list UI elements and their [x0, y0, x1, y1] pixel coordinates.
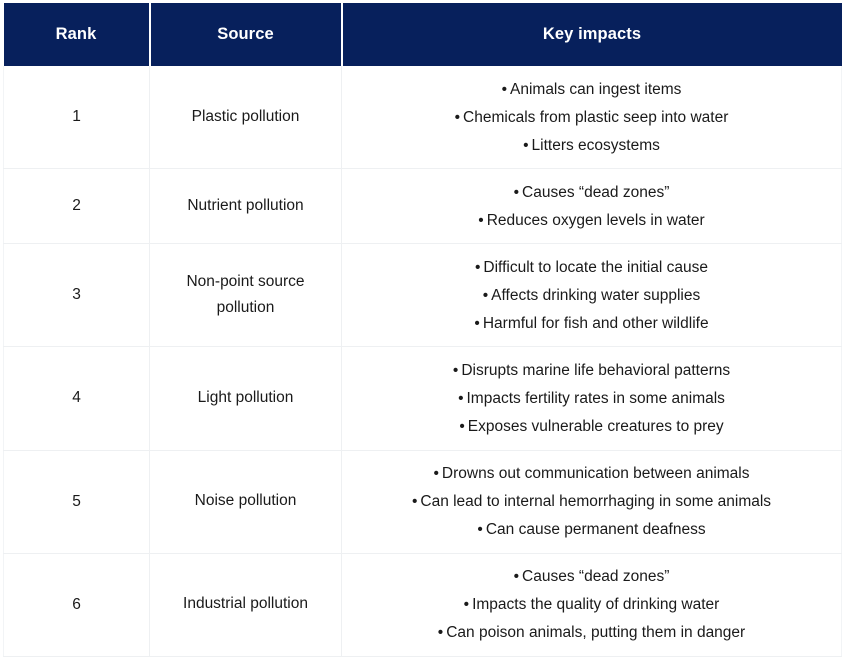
impact-list: •Causes “dead zones”•Reduces oxygen leve…: [348, 178, 835, 234]
cell-source: Nutrient pollution: [150, 169, 342, 244]
table-body: 1Plastic pollution•Animals can ingest it…: [4, 66, 842, 656]
bullet-icon: •: [458, 390, 463, 407]
impact-item: •Impacts the quality of drinking water: [348, 591, 835, 619]
impact-text: Causes “dead zones”: [522, 184, 669, 201]
column-header-source: Source: [150, 3, 342, 66]
impact-item: •Exposes vulnerable creatures to prey: [348, 412, 835, 440]
impact-text: Can lead to internal hemorrhaging in som…: [420, 493, 771, 510]
bullet-icon: •: [464, 596, 469, 613]
impact-item: •Can cause permanent deafness: [348, 516, 835, 544]
bullet-icon: •: [412, 493, 417, 510]
bullet-icon: •: [514, 184, 519, 201]
impact-text: Animals can ingest items: [510, 81, 681, 98]
cell-rank: 5: [4, 450, 150, 553]
cell-rank: 2: [4, 169, 150, 244]
impact-item: •Affects drinking water supplies: [348, 281, 835, 309]
impact-item: •Litters ecosystems: [348, 131, 835, 159]
bullet-icon: •: [483, 287, 488, 304]
impact-item: •Harmful for fish and other wildlife: [348, 309, 835, 337]
cell-source: Industrial pollution: [150, 553, 342, 656]
bullet-icon: •: [474, 315, 479, 332]
impact-item: •Can poison animals, putting them in dan…: [348, 619, 835, 647]
impact-text: Causes “dead zones”: [522, 568, 669, 585]
impact-text: Disrupts marine life behavioral patterns: [461, 362, 730, 379]
impact-text: Difficult to locate the initial cause: [483, 259, 708, 276]
impact-text: Can poison animals, putting them in dang…: [446, 624, 745, 641]
impact-text: Chemicals from plastic seep into water: [463, 109, 728, 126]
cell-key-impacts: •Causes “dead zones”•Reduces oxygen leve…: [342, 169, 842, 244]
impact-list: •Difficult to locate the initial cause•A…: [348, 253, 835, 337]
impact-item: •Disrupts marine life behavioral pattern…: [348, 356, 835, 384]
impact-text: Affects drinking water supplies: [491, 287, 700, 304]
table-row: 1Plastic pollution•Animals can ingest it…: [4, 66, 842, 169]
impact-item: •Drowns out communication between animal…: [348, 460, 835, 488]
bullet-icon: •: [455, 109, 460, 126]
cell-source: Non-point source pollution: [150, 244, 342, 347]
cell-key-impacts: •Causes “dead zones”•Impacts the quality…: [342, 553, 842, 656]
column-header-impacts: Key impacts: [342, 3, 842, 66]
bullet-icon: •: [502, 81, 507, 98]
bullet-icon: •: [523, 137, 528, 154]
impact-text: Litters ecosystems: [532, 137, 660, 154]
impact-item: •Animals can ingest items: [348, 75, 835, 103]
cell-key-impacts: •Disrupts marine life behavioral pattern…: [342, 347, 842, 450]
bullet-icon: •: [475, 259, 480, 276]
bullet-icon: •: [438, 624, 443, 641]
table-row: 3Non-point source pollution•Difficult to…: [4, 244, 842, 347]
header-row: Rank Source Key impacts: [4, 3, 842, 66]
table-container: Rank Source Key impacts 1Plastic polluti…: [0, 0, 852, 663]
cell-rank: 4: [4, 347, 150, 450]
bullet-icon: •: [478, 212, 483, 229]
bullet-icon: •: [459, 418, 464, 435]
cell-source: Light pollution: [150, 347, 342, 450]
impact-text: Impacts the quality of drinking water: [472, 596, 719, 613]
impact-item: •Causes “dead zones”: [348, 178, 835, 206]
impact-list: •Causes “dead zones”•Impacts the quality…: [348, 563, 835, 647]
cell-source: Noise pollution: [150, 450, 342, 553]
impact-text: Impacts fertility rates in some animals: [467, 390, 725, 407]
table-row: 6Industrial pollution•Causes “dead zones…: [4, 553, 842, 656]
impact-list: •Animals can ingest items•Chemicals from…: [348, 75, 835, 159]
impact-text: Drowns out communication between animals: [442, 465, 750, 482]
impact-text: Can cause permanent deafness: [486, 521, 706, 538]
cell-key-impacts: •Drowns out communication between animal…: [342, 450, 842, 553]
cell-rank: 6: [4, 553, 150, 656]
pollution-impacts-table: Rank Source Key impacts 1Plastic polluti…: [3, 3, 842, 657]
table-row: 2Nutrient pollution•Causes “dead zones”•…: [4, 169, 842, 244]
impact-list: •Drowns out communication between animal…: [348, 460, 835, 544]
bullet-icon: •: [433, 465, 438, 482]
cell-key-impacts: •Animals can ingest items•Chemicals from…: [342, 66, 842, 169]
bullet-icon: •: [514, 568, 519, 585]
impact-item: •Causes “dead zones”: [348, 563, 835, 591]
impact-item: •Difficult to locate the initial cause: [348, 253, 835, 281]
impact-item: •Chemicals from plastic seep into water: [348, 103, 835, 131]
cell-source: Plastic pollution: [150, 66, 342, 169]
impact-item: •Can lead to internal hemorrhaging in so…: [348, 488, 835, 516]
table-row: 4Light pollution•Disrupts marine life be…: [4, 347, 842, 450]
table-header: Rank Source Key impacts: [4, 3, 842, 66]
impact-text: Harmful for fish and other wildlife: [483, 315, 709, 332]
table-row: 5Noise pollution•Drowns out communicatio…: [4, 450, 842, 553]
cell-key-impacts: •Difficult to locate the initial cause•A…: [342, 244, 842, 347]
cell-rank: 1: [4, 66, 150, 169]
column-header-rank: Rank: [4, 3, 150, 66]
impact-text: Reduces oxygen levels in water: [487, 212, 705, 229]
impact-item: •Reduces oxygen levels in water: [348, 206, 835, 234]
impact-item: •Impacts fertility rates in some animals: [348, 384, 835, 412]
cell-rank: 3: [4, 244, 150, 347]
impact-list: •Disrupts marine life behavioral pattern…: [348, 356, 835, 440]
bullet-icon: •: [477, 521, 482, 538]
impact-text: Exposes vulnerable creatures to prey: [468, 418, 724, 435]
bullet-icon: •: [453, 362, 458, 379]
